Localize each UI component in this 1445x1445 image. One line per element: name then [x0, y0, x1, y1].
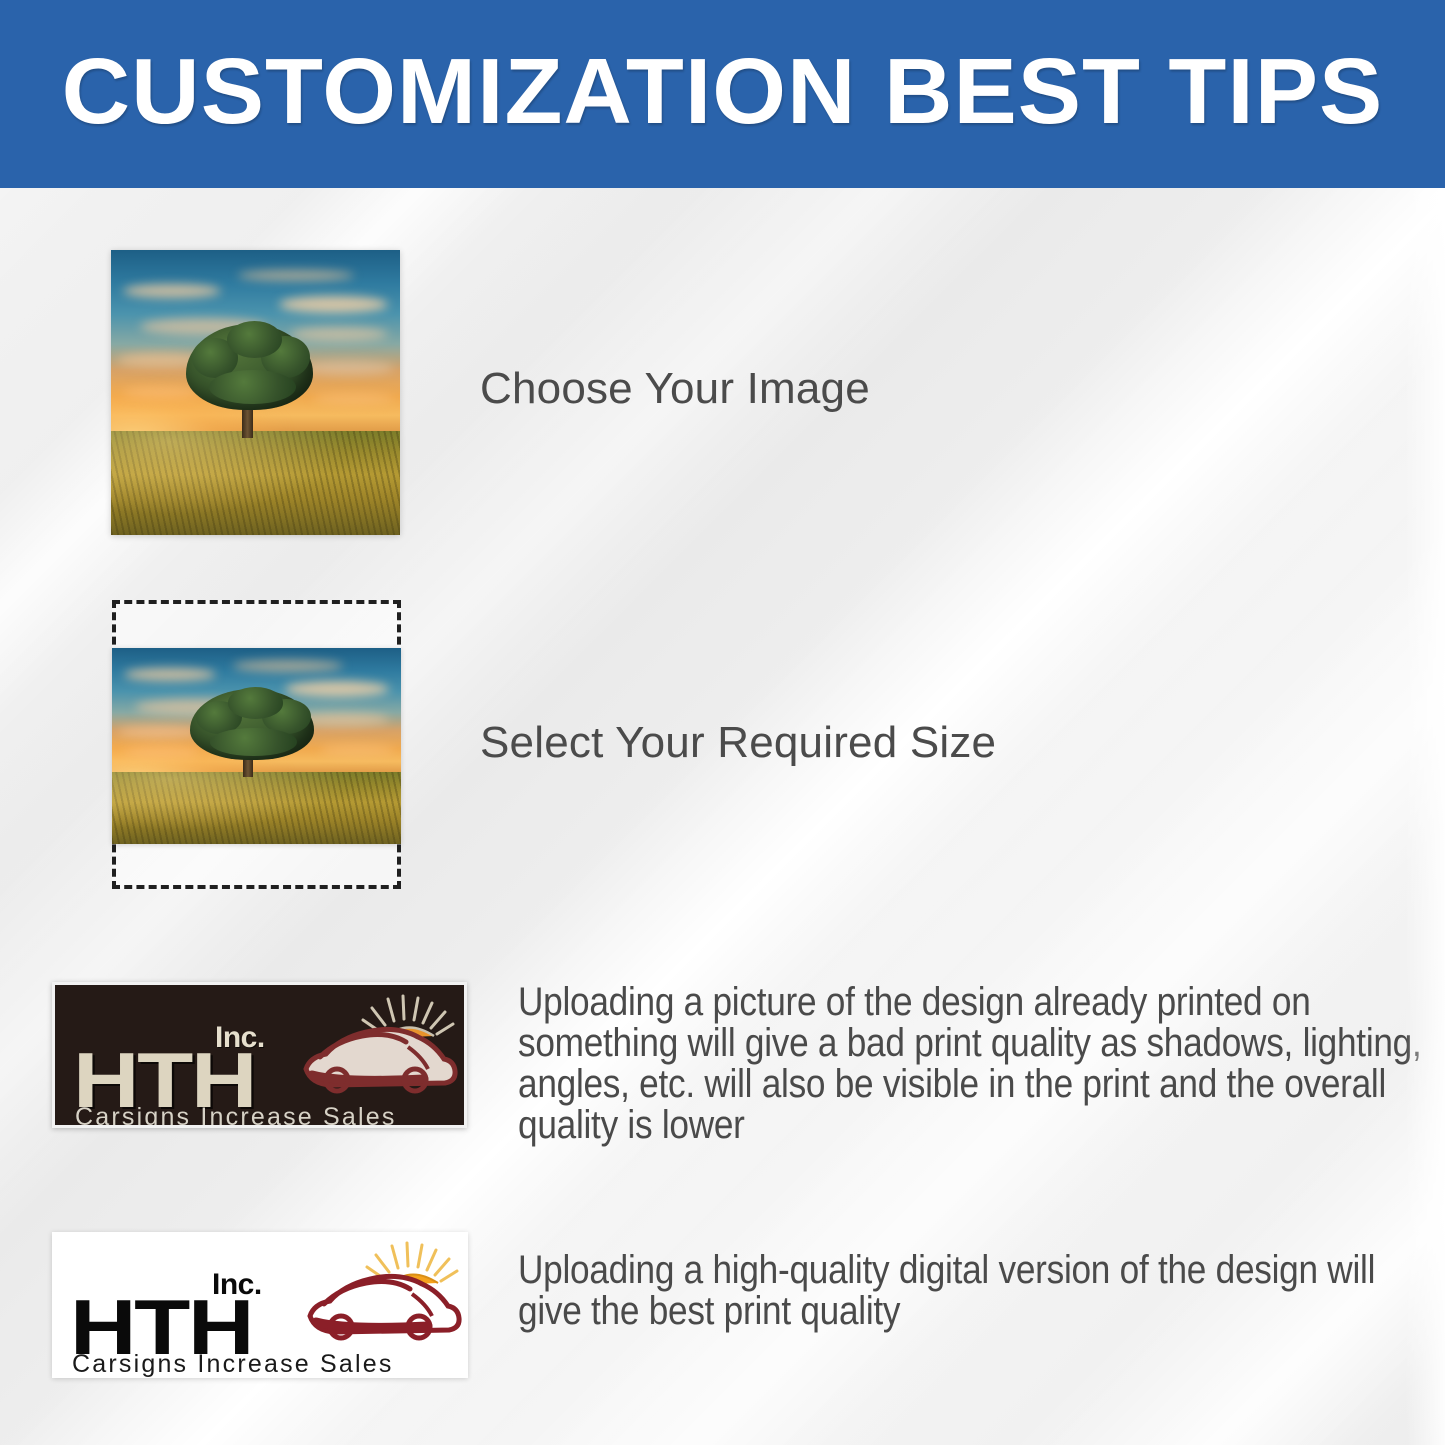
logo-suffix-text: Inc. [212, 1270, 262, 1300]
page-title: CUSTOMIZATION BEST TIPS [0, 45, 1445, 144]
hth-logo-digital: HTH Inc. Carsigns Increase Sales [52, 1232, 468, 1378]
cloud [124, 746, 199, 758]
tree-photo-wide [112, 648, 401, 844]
header-banner: CUSTOMIZATION BEST TIPS [0, 0, 1445, 188]
car-icon [290, 991, 458, 1109]
tree-canopy [227, 321, 282, 358]
step-text-good-example: Uploading a high-quality digital version… [518, 1250, 1398, 1332]
tree-canopy [209, 370, 296, 404]
step-label-choose-image: Choose Your Image [480, 364, 870, 414]
logo-contents: HTH Inc. Carsigns Increase Sales [55, 985, 464, 1125]
tree-canopy [228, 687, 283, 718]
logo-contents: HTH Inc. Carsigns Increase Sales [52, 1232, 468, 1378]
infographic-page: CUSTOMIZATION BEST TIPS Choose Your Imag… [0, 0, 1445, 1445]
logo-suffix-text: Inc. [215, 1023, 265, 1053]
tree-canopy [210, 728, 297, 755]
cloud [313, 393, 394, 404]
edge-highlight [1405, 188, 1445, 1445]
field-light [112, 772, 401, 844]
step-text-bad-example: Uploading a picture of the design alread… [518, 982, 1445, 1146]
cloud [123, 387, 198, 398]
car-body [310, 1276, 459, 1338]
cloud [233, 660, 343, 672]
cloud [320, 744, 395, 756]
field-light [111, 431, 400, 535]
car-icon [294, 1238, 462, 1356]
step-label-select-size: Select Your Required Size [480, 718, 996, 768]
hth-logo-photographed: HTH Inc. Carsigns Increase Sales [52, 982, 467, 1128]
car-body [306, 1029, 455, 1091]
cloud [279, 296, 389, 313]
tree-photo-square [111, 250, 400, 535]
cloud [285, 681, 389, 697]
